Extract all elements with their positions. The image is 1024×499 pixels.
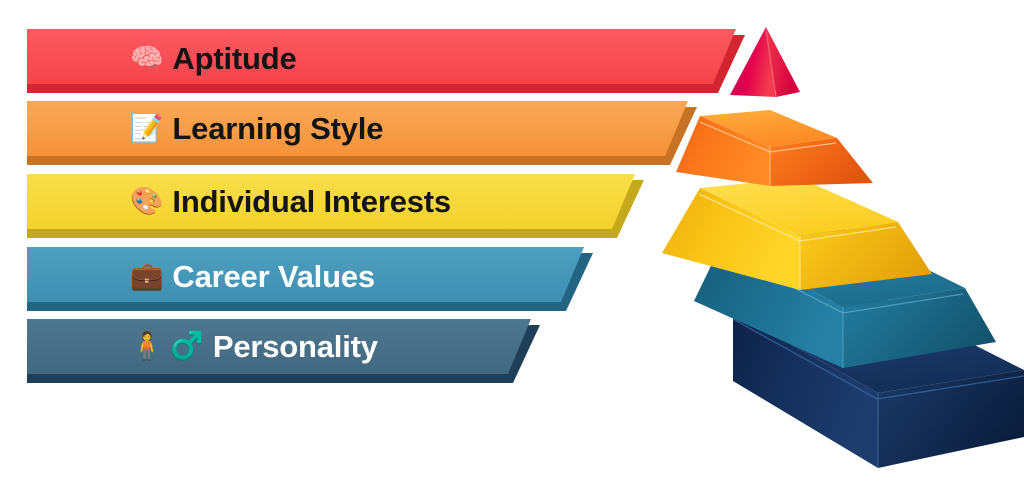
pyramid-second-tier: [676, 110, 873, 186]
pyramid-third-tier: [662, 178, 932, 290]
pyramid-infographic: 🧠 Aptitude 📝 Learning Style 🎨 Individual…: [0, 0, 1024, 499]
pyramid-3d-graphic: [0, 0, 1024, 499]
pyramid-apex-tier: [730, 27, 800, 97]
